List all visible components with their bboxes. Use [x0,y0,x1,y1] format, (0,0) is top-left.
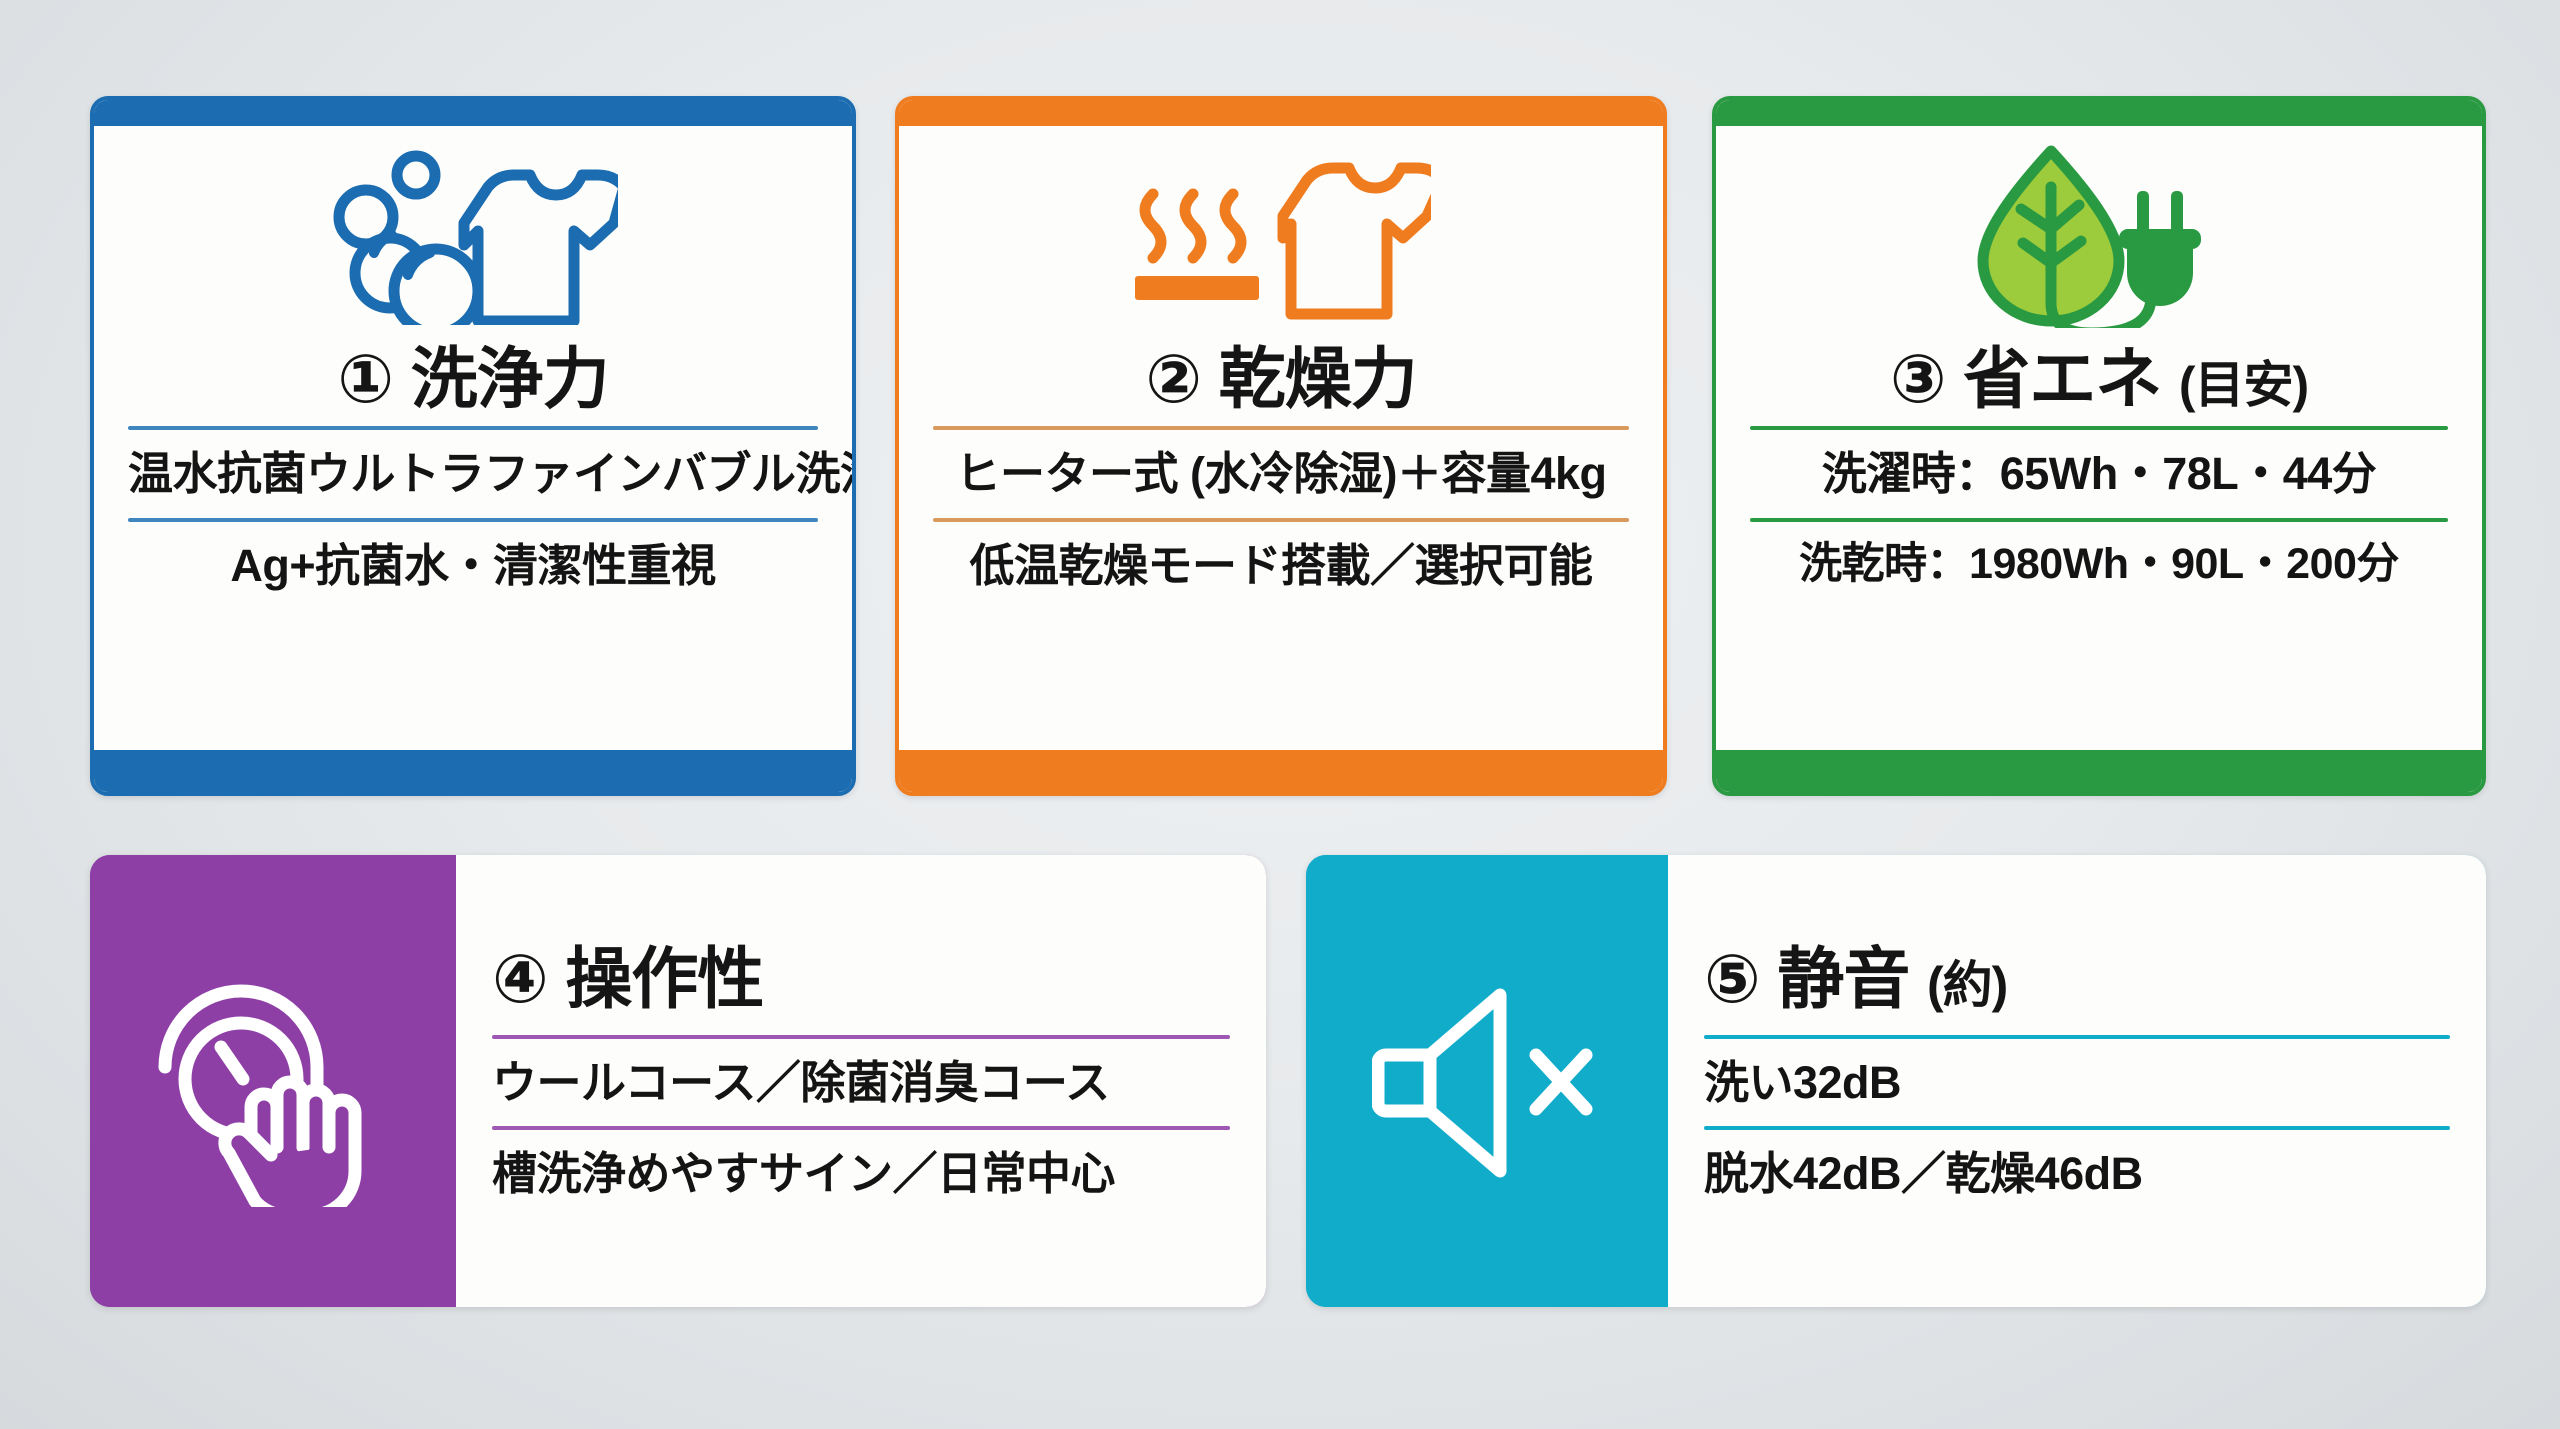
speaker-mute-icon [1372,981,1602,1181]
card-title: ④ 操作性 [492,944,1230,1016]
infographic-board: ① 洗浄力 温水抗菌ウルトラファインバブル洗浄 Ag+抗菌水・清潔性重視 [0,0,2560,1429]
card-number: ② [1145,342,1201,417]
card-title-text: 省エネ [1963,342,2161,417]
card-number: ⑤ [1704,942,1760,1017]
card-top-accent-bar [899,100,1663,126]
feature-card-quietness[interactable]: ⑤ 静音 (約) 洗い32dB 脱水42dB／乾燥46dB [1306,855,2486,1307]
card-bottom-accent-bar [1716,750,2482,792]
card-title: ② 乾燥力 [933,344,1629,416]
card-top-accent-bar [1716,100,2482,126]
tshirt-bubbles-icon [128,140,818,330]
card-top-accent-bar [94,100,852,126]
spec-line: ウールコース／除菌消臭コース [492,1039,1230,1127]
icon-pane [1306,855,1668,1307]
feature-card-energy-saving[interactable]: ③ 省エネ (目安) 洗濯時：65Wh・78L・44分 洗乾時：1980Wh・9… [1712,96,2486,796]
spec-line: 低温乾燥モード搭載／選択可能 [933,522,1629,610]
content-panel: ⑤ 静音 (約) 洗い32dB 脱水42dB／乾燥46dB [1668,855,2486,1307]
icon-pane [90,855,456,1307]
feature-card-washing-power[interactable]: ① 洗浄力 温水抗菌ウルトラファインバブル洗浄 Ag+抗菌水・清潔性重視 [90,96,856,796]
card-title-suffix: (約) [1927,957,2007,1013]
card-title-text: 乾燥力 [1219,342,1417,417]
spec-line: 脱水42dB／乾燥46dB [1704,1130,2450,1218]
spec-line: 洗い32dB [1704,1039,2450,1127]
card-number: ① [337,342,393,417]
card-title-text: 操作性 [565,942,763,1017]
dial-hand-icon [147,955,399,1207]
spec-line: 洗乾時：1980Wh・90L・200分 [1750,522,2448,607]
card-title: ③ 省エネ (目安) [1750,344,2448,416]
leaf-plug-icon [1750,140,2448,330]
spec-line: Ag+抗菌水・清潔性重視 [128,522,818,610]
card-title-text: 洗浄力 [411,342,609,417]
feature-card-operability[interactable]: ④ 操作性 ウールコース／除菌消臭コース 槽洗浄めやすサイン／日常中心 [90,855,1266,1307]
card-bottom-accent-bar [899,750,1663,792]
spec-line: 槽洗浄めやすサイン／日常中心 [492,1130,1230,1218]
card-title: ① 洗浄力 [128,344,818,416]
card-title-text: 静音 [1777,942,1909,1017]
content-panel: ④ 操作性 ウールコース／除菌消臭コース 槽洗浄めやすサイン／日常中心 [456,855,1266,1307]
spec-line: 洗濯時：65Wh・78L・44分 [1750,430,2448,518]
card-number: ③ [1890,342,1946,417]
card-title-suffix: (目安) [2179,357,2308,413]
spec-line: 温水抗菌ウルトラファインバブル洗浄 [128,430,818,518]
heat-waves-tshirt-icon [933,140,1629,330]
feature-card-drying-power[interactable]: ② 乾燥力 ヒーター式 (水冷除湿)＋容量4kg 低温乾燥モード搭載／選択可能 [895,96,1667,796]
card-bottom-accent-bar [94,750,852,792]
card-number: ④ [492,942,548,1017]
card-title: ⑤ 静音 (約) [1704,944,2450,1016]
spec-line: ヒーター式 (水冷除湿)＋容量4kg [933,430,1629,518]
